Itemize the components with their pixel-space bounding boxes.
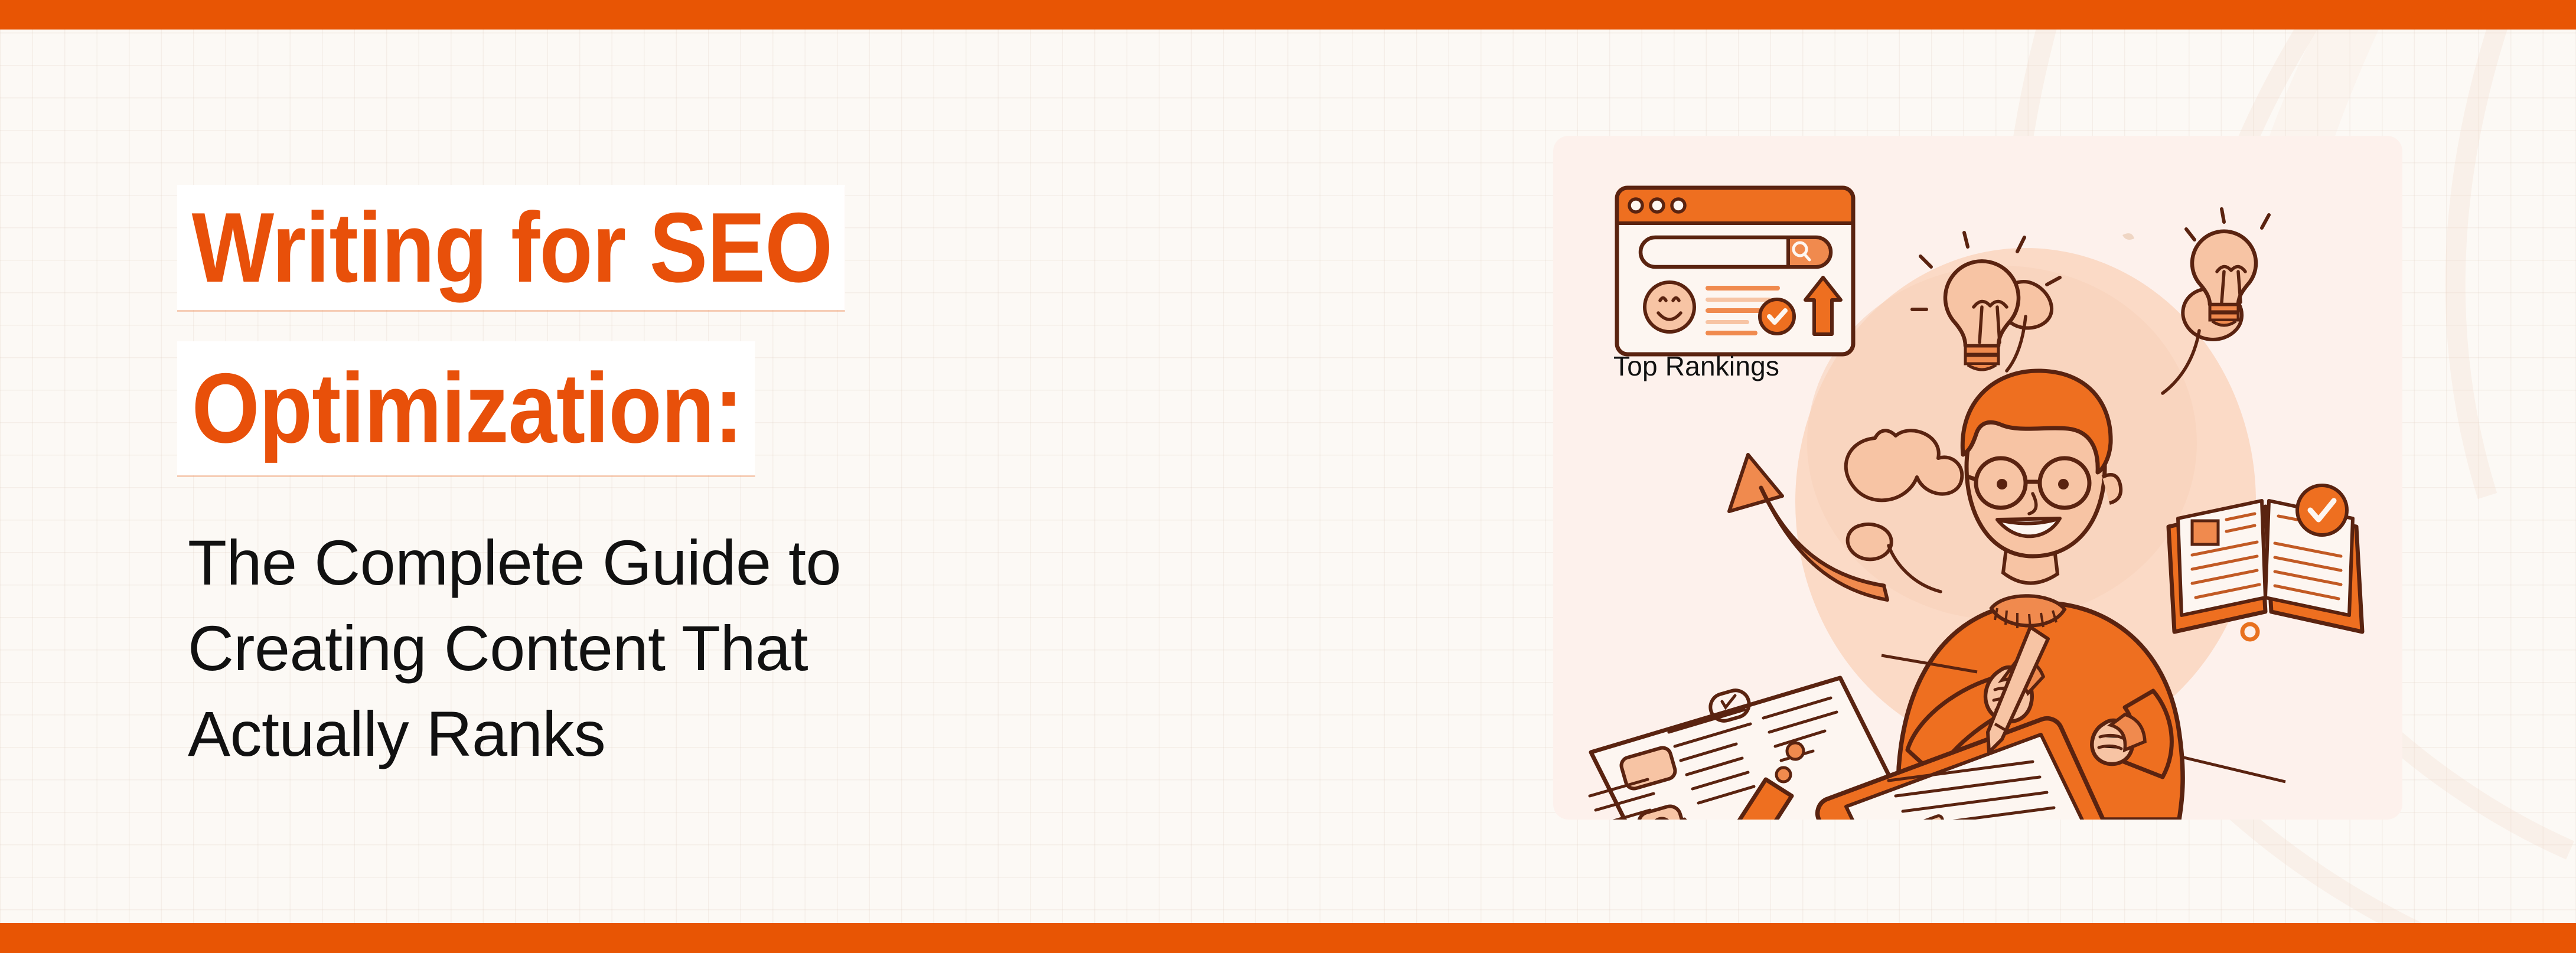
search-bar	[1641, 237, 1831, 267]
subtitle-line-2: Creating Content That	[188, 605, 1074, 691]
headline-line-1: Writing for SEO	[177, 185, 844, 310]
search-results-browser-window	[1617, 188, 1853, 354]
seo-writing-illustration: .ln { fill:none; stroke:#5A2310; stroke-…	[1553, 136, 2402, 820]
headline-line-2: Optimization:	[177, 341, 755, 475]
book-check-badge-icon	[2297, 485, 2347, 535]
top-accent-bar	[0, 0, 2576, 30]
decorative-speck	[2122, 233, 2134, 240]
bottom-accent-bar	[0, 923, 2576, 953]
illustration-card: .ln { fill:none; stroke:#5A2310; stroke-…	[1553, 136, 2402, 820]
subtitle-block: The Complete Guide to Creating Content T…	[188, 520, 1074, 776]
subtitle-line-1: The Complete Guide to	[188, 520, 1074, 605]
window-dots	[1629, 199, 1685, 212]
top-rankings-label: Top Rankings	[1613, 351, 1779, 381]
subtitle-line-3: Actually Ranks	[188, 691, 1074, 776]
smiley-icon	[1645, 282, 1694, 332]
check-badge-icon	[1760, 299, 1794, 334]
seo-banner: Writing for SEO Optimization: The Comple…	[0, 0, 2576, 953]
